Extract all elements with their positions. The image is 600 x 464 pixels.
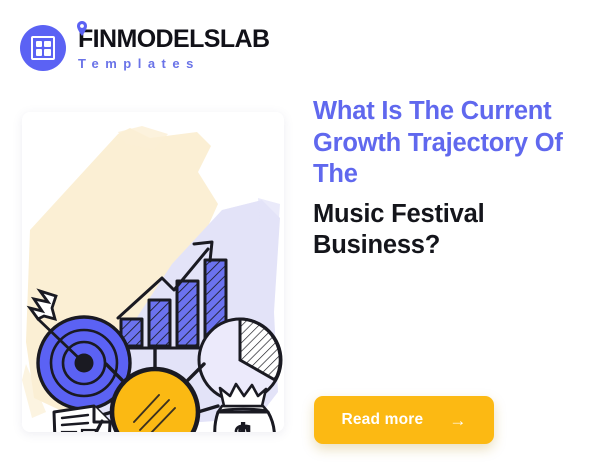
grid-squares-glyph (31, 36, 55, 60)
grid-squares-icon (20, 25, 66, 71)
grid-cell (44, 49, 50, 55)
page-title: What Is The Current Growth Trajectory Of… (313, 96, 585, 191)
business-growth-illustration: $ (22, 112, 284, 432)
brand-logo-text: FINMODELSLAB Templates (78, 27, 269, 70)
svg-text:$: $ (235, 419, 252, 432)
grid-cell (44, 41, 50, 47)
copy-block: What Is The Current Growth Trajectory Of… (313, 96, 585, 262)
brand-wordmark: FINMODELSLAB (78, 27, 269, 52)
brand-logo[interactable]: FINMODELSLAB Templates (20, 25, 269, 71)
grid-cell (36, 49, 42, 55)
promo-banner: FINMODELSLAB Templates (0, 0, 600, 464)
brand-tagline: Templates (78, 57, 269, 70)
read-more-button[interactable]: Read more → (314, 396, 494, 444)
grid-cell (36, 41, 42, 47)
arrow-right-icon: → (449, 412, 466, 429)
page-subtitle: Music Festival Business? (313, 199, 585, 262)
read-more-label: Read more (341, 411, 423, 429)
